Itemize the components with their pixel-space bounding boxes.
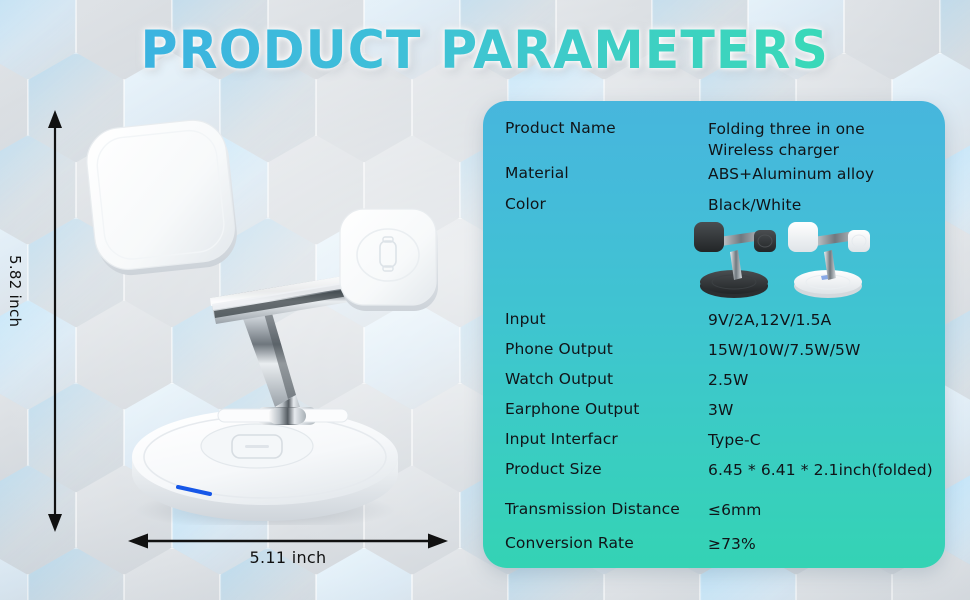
spec-value: ≤6mm (708, 500, 761, 521)
page-title-text: PRODUCT PARAMETERS (141, 20, 829, 81)
width-dimension-label: 5.11 inch (128, 548, 448, 567)
spec-label: Material (505, 164, 569, 182)
spec-label: Phone Output (505, 340, 613, 358)
height-dimension-label: 5.82 inch (6, 255, 24, 327)
spec-label: Watch Output (505, 370, 613, 388)
spec-label: Product Name (505, 119, 616, 137)
phone-charging-pad (84, 117, 241, 279)
black-charger-thumbnail (694, 222, 776, 298)
spec-label: Input Interfacr (505, 430, 618, 448)
watch-charging-pad (340, 209, 438, 311)
color-swatch-images (690, 214, 872, 308)
spec-label: Product Size (505, 460, 602, 478)
spec-value: 3W (708, 400, 733, 421)
white-charger-thumbnail (788, 222, 870, 298)
spec-value: 15W/10W/7.5W/5W (708, 340, 860, 361)
spec-value: ≥73% (708, 534, 756, 555)
spec-value: Black/White (708, 195, 801, 216)
spec-value: Type-C (708, 430, 761, 451)
spec-value: 9V/2A,12V/1.5A (708, 310, 831, 331)
spec-label: Color (505, 195, 546, 213)
charger-base (132, 409, 398, 521)
spec-label: Transmission Distance (505, 500, 680, 518)
specification-rows: Product NameFolding three in one Wireles… (483, 101, 945, 568)
height-dimension-arrow (47, 110, 63, 532)
spec-label: Input (505, 310, 546, 328)
product-parameters-infographic: PRODUCT PARAMETERS PRODUCT PARAMETERS (0, 0, 970, 600)
spec-value: Folding three in one Wireless charger (708, 119, 865, 161)
spec-label: Conversion Rate (505, 534, 634, 552)
spec-value: ABS+Aluminum alloy (708, 164, 874, 185)
page-title: PRODUCT PARAMETERS PRODUCT PARAMETERS (0, 20, 970, 81)
specification-panel: Product NameFolding three in one Wireles… (483, 101, 945, 568)
spec-value: 2.5W (708, 370, 748, 391)
product-image (60, 95, 460, 525)
spec-value: 6.45 * 6.41 * 2.1inch(folded) (708, 460, 933, 481)
spec-label: Earphone Output (505, 400, 639, 418)
